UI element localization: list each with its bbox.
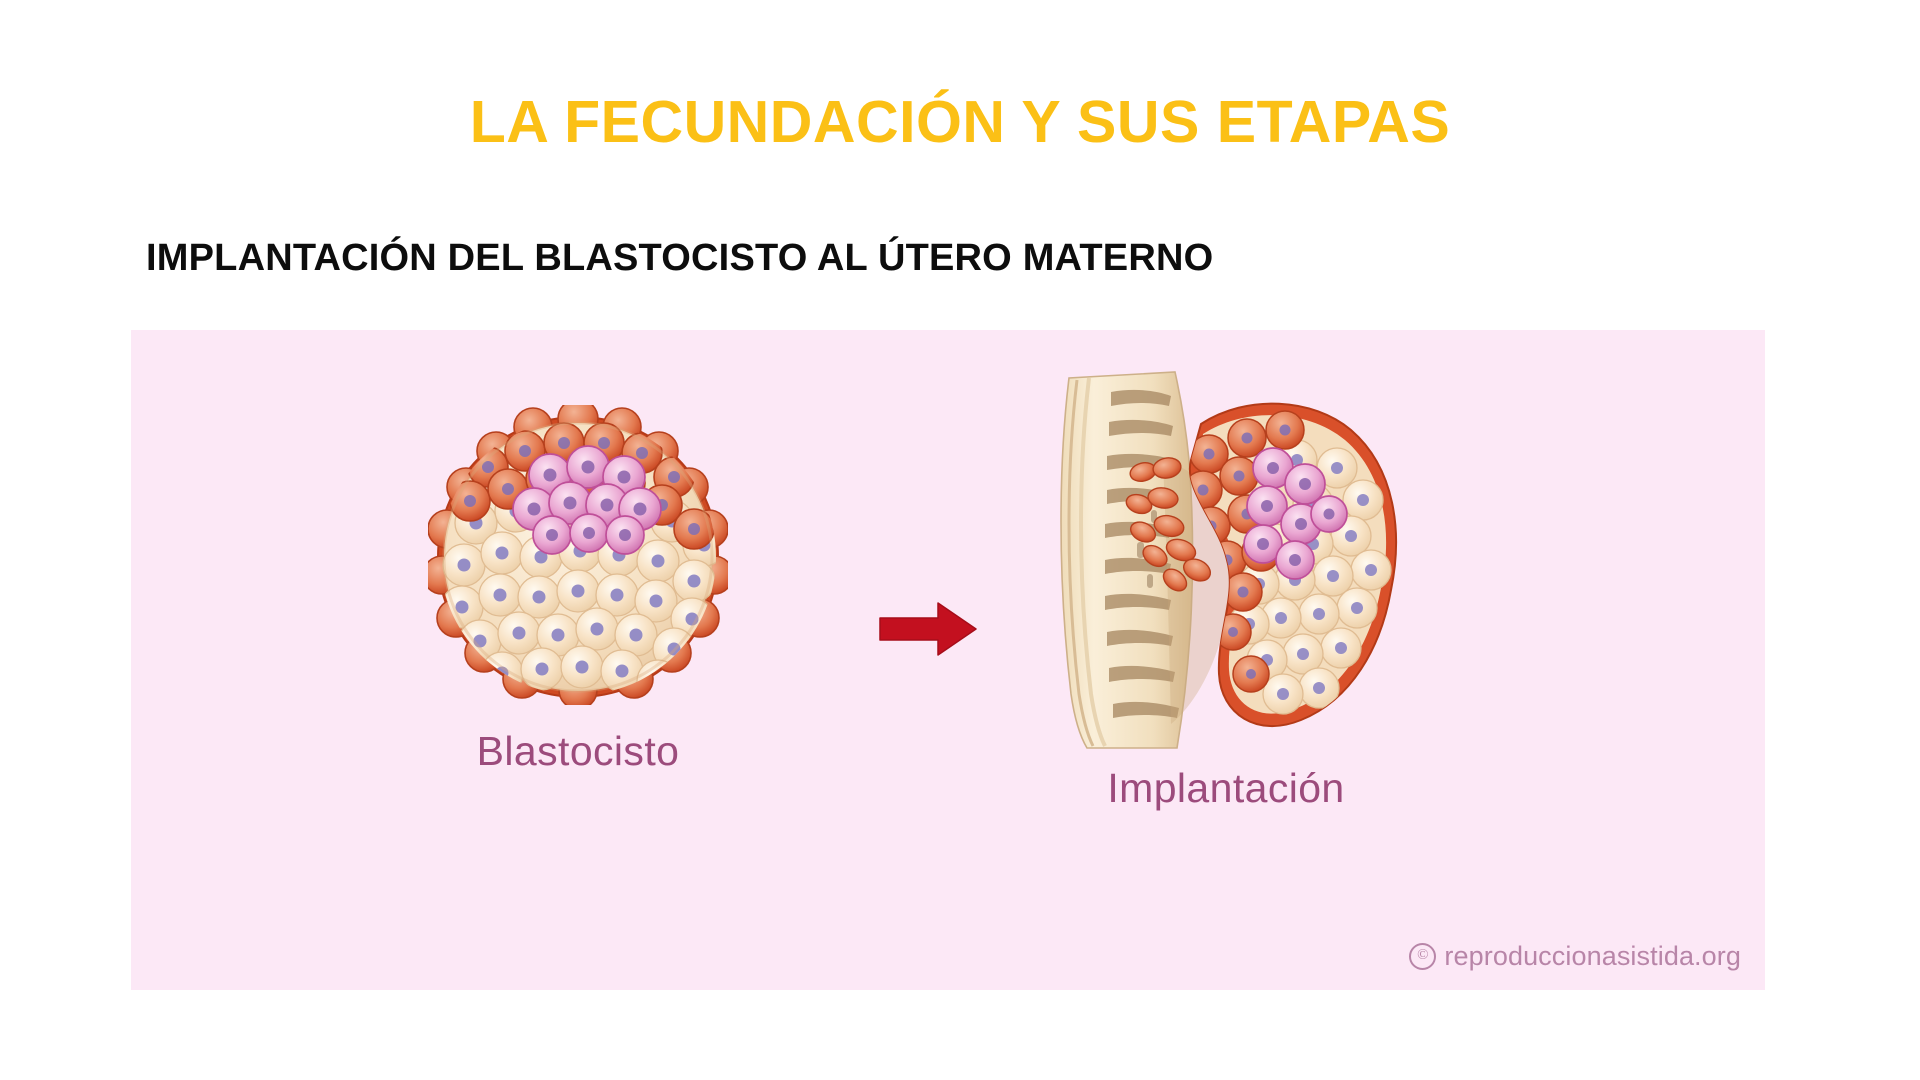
figure-stage: Blastocisto [131,330,1765,990]
implantation-svg [1051,364,1431,754]
slide: LA FECUNDACIÓN Y SUS ETAPAS IMPLANTACIÓN… [0,0,1920,1080]
slide-subtitle: IMPLANTACIÓN DEL BLASTOCISTO AL ÚTERO MA… [146,237,1213,280]
watermark: © reproduccionasistida.org [1409,941,1741,972]
watermark-text: reproduccionasistida.org [1444,941,1741,972]
implantation-label: Implantación [1011,765,1441,812]
blastocyst-illustration [428,405,728,705]
blastocyst-label: Blastocisto [427,728,729,775]
page-title: LA FECUNDACIÓN Y SUS ETAPAS [0,92,1920,154]
right-arrow-icon [878,599,978,659]
figure-panel: Blastocisto [131,330,1765,990]
copyright-icon: © [1409,943,1436,970]
blastocyst-svg [428,405,728,705]
inner-cell-mass [513,446,661,554]
implantation-illustration [1051,364,1431,754]
